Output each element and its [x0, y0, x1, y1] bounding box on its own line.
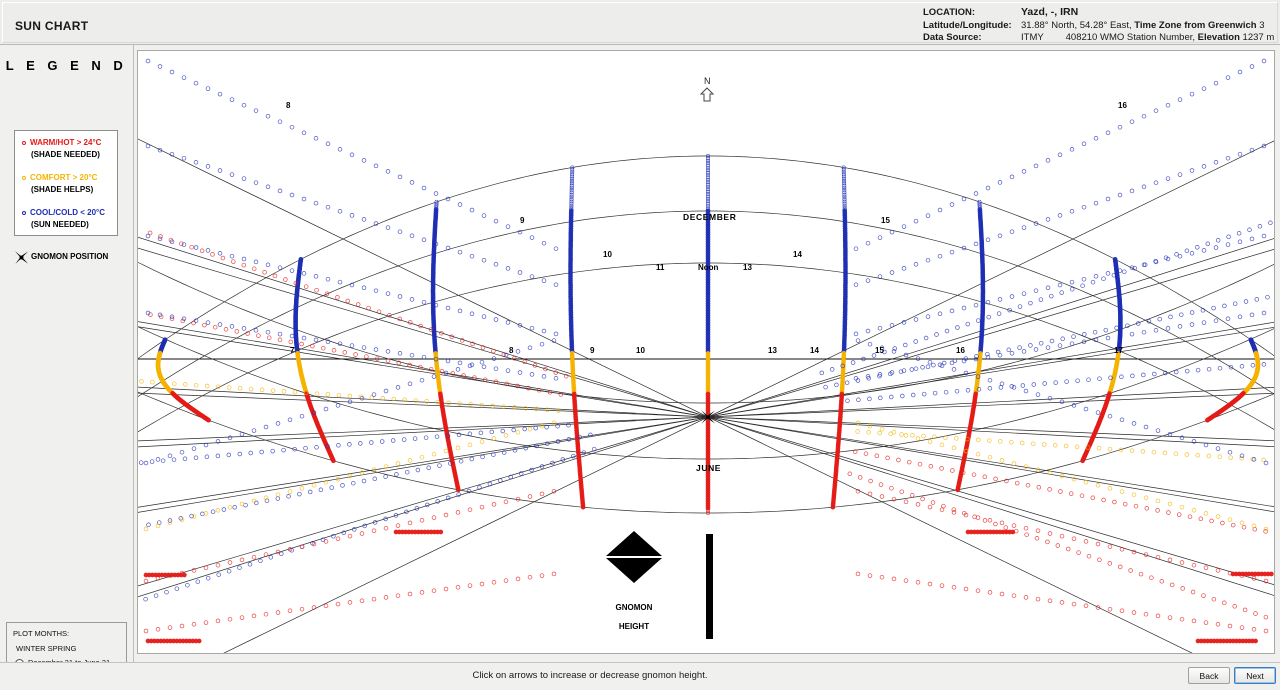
legend-item-warm-hot-note: (SHADE NEEDED) — [31, 150, 100, 159]
hour-label-horizon-9: 9 — [590, 346, 594, 355]
location-info-block: LOCATION: Yazd, -, IRN Latitude/Longitud… — [901, 6, 1273, 44]
datasource-value: ITMY — [1021, 32, 1063, 45]
longitude-value: 54.28° East, — [1080, 20, 1132, 31]
legend-item-cool-cold-label: COOL/COLD < 20°C — [30, 208, 105, 217]
gnomon-height-control: GNOMON HEIGHT — [576, 531, 716, 641]
hour-label-horizon-16: 16 — [956, 346, 965, 355]
gnomon-position-label: GNOMON POSITION — [31, 252, 108, 261]
hour-label-horizon-7: 7 — [290, 346, 294, 355]
hour-label-horizon-14: 14 — [810, 346, 819, 355]
hour-label-upper-9: 9 — [520, 216, 524, 225]
datasource-label: Data Source: — [923, 32, 982, 45]
legend-item-comfort-label: COMFORT > 20°C — [30, 173, 97, 182]
legend-item-cool-cold-note: (SUN NEEDED) — [31, 220, 89, 229]
hour-label-upper-16: 16 — [1118, 101, 1127, 110]
wmo-station-value: 408210 WMO Station Number, — [1066, 32, 1195, 43]
latlon-values: 31.88° North, 54.28° East, Time Zone fro… — [1021, 20, 1264, 33]
hour-label-upper-10: 10 — [603, 250, 612, 259]
elevation-value: 1237 m — [1243, 32, 1275, 43]
hour-label-horizon-8: 8 — [509, 346, 513, 355]
page-title: SUN CHART — [15, 19, 88, 33]
gnomon-position-star-icon — [14, 250, 29, 265]
hour-label-horizon-10: 10 — [636, 346, 645, 355]
gnomon-decrease-arrow-button[interactable] — [606, 558, 662, 583]
sun-chart-plot-area[interactable]: N DECEMBER JUNE GNOMON HEIGHT 891011Noon… — [137, 50, 1275, 654]
status-message: Click on arrows to increase or decrease … — [0, 670, 1180, 681]
hour-label-horizon-17: 17 — [1114, 346, 1123, 355]
hour-label-upper-14: 14 — [793, 250, 802, 259]
gnomon-height-caption-line2: HEIGHT — [589, 622, 679, 631]
latitude-value: 31.88° North, — [1021, 20, 1077, 31]
hour-label-upper-15: 15 — [881, 216, 890, 225]
location-label: LOCATION: — [923, 7, 975, 20]
legend-item-comfort-note: (SHADE HELPS) — [31, 185, 93, 194]
cool-cold-dot-icon — [22, 211, 26, 215]
header-bar: SUN CHART LOCATION: Yazd, -, IRN Latitud… — [0, 0, 1280, 45]
june-curve-label: JUNE — [696, 463, 721, 473]
legend-gnomon-position: GNOMON POSITION — [14, 250, 124, 266]
hour-label-upper-11: 11 — [656, 263, 664, 272]
december-curve-label: DECEMBER — [683, 212, 736, 222]
hour-label-horizon-13: 13 — [768, 346, 777, 355]
timezone-value: 3 — [1259, 20, 1264, 31]
sun-chart-application: SUN CHART LOCATION: Yazd, -, IRN Latitud… — [0, 0, 1280, 690]
north-arrow-icon — [699, 87, 715, 103]
legend-sidebar: L E G E N D WARM/HOT > 24°C (SHADE NEEDE… — [0, 45, 134, 662]
hour-label-upper-8: 8 — [286, 101, 290, 110]
legend-title: L E G E N D — [0, 58, 133, 73]
gnomon-increase-arrow-button[interactable] — [606, 531, 662, 556]
header-inner-panel: SUN CHART LOCATION: Yazd, -, IRN Latitud… — [2, 2, 1278, 43]
latlon-label: Latitude/Longitude: — [923, 20, 1012, 33]
legend-item-warm-hot-label: WARM/HOT > 24°C — [30, 138, 101, 147]
winter-spring-group-label: WINTER SPRING — [16, 644, 76, 653]
location-value: Yazd, -, IRN — [1021, 6, 1078, 19]
plot-months-title: PLOT MONTHS: — [13, 629, 69, 638]
hour-label-upper-13: 13 — [743, 263, 752, 272]
timezone-label: Time Zone from Greenwich — [1134, 20, 1256, 31]
legend-box: WARM/HOT > 24°C (SHADE NEEDED) COMFORT >… — [14, 130, 118, 236]
hour-label-horizon-15: 15 — [875, 346, 884, 355]
next-button[interactable]: Next — [1234, 667, 1276, 684]
back-button[interactable]: Back — [1188, 667, 1230, 684]
elevation-label: Elevation — [1198, 32, 1240, 43]
comfort-dot-icon — [22, 176, 26, 180]
gnomon-position-marker-icon — [700, 409, 716, 425]
gnomon-height-bar — [706, 534, 713, 639]
footer-bar: Click on arrows to increase or decrease … — [0, 662, 1280, 690]
gnomon-height-caption-line1: GNOMON — [589, 603, 679, 612]
north-label: N — [704, 76, 711, 86]
datasource-values: ITMY 408210 WMO Station Number, Elevatio… — [1021, 32, 1274, 45]
hour-label-upper-noon: Noon — [698, 263, 718, 272]
warm-hot-dot-icon — [22, 141, 26, 145]
